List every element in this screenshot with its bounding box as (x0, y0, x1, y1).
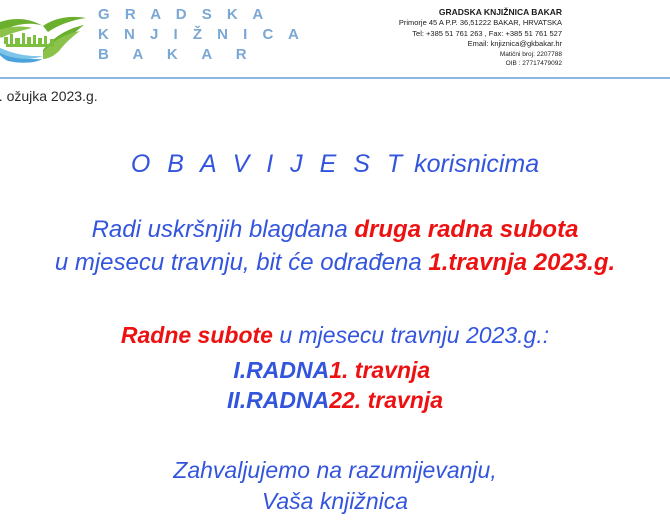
working-saturdays-heading-red: Radne subote (121, 322, 273, 348)
organization-oib: OIB : 27717479092 (399, 59, 562, 69)
page-title: O B A V I J E S T korisnicima (0, 150, 670, 179)
working-saturdays-table: I. RADNA 1. travnja II. RADNA 22. travnj… (227, 355, 443, 415)
shift-label: RADNA (246, 355, 329, 385)
shift-label: RADNA (246, 385, 329, 415)
shift-date: 22. travnja (329, 385, 443, 415)
library-logo: G R A D S K A K N J I Ž N I C A B A K A … (0, 4, 304, 66)
notice-body: O B A V I J E S T korisnicima Radi uskrš… (0, 150, 670, 517)
logo-wordmark: G R A D S K A K N J I Ž N I C A B A K A … (98, 5, 304, 65)
page-title-spaced: O B A V I J E S T (131, 150, 407, 178)
paragraph-2-red-date: 1.travnja 2023.g. (428, 249, 615, 276)
document-date: 5. ožujka 2023.g. (0, 88, 98, 104)
notice-paragraph-line-2: u mjesecu travnju, bit će odrađena 1.tra… (0, 246, 670, 279)
closing-line-2: Vaša knjižnica (0, 486, 670, 517)
contact-details: GRADSKA KNJIŽNICA BAKAR Primorje 45 A P.… (399, 6, 562, 69)
organization-registration-number: Matični broj: 2207788 (399, 50, 562, 60)
paragraph-1-blue-text: Radi uskršnjih blagdana (92, 216, 355, 243)
letterhead: G R A D S K A K N J I Ž N I C A B A K A … (0, 0, 670, 78)
organization-address: Primorje 45 A P.P. 36,51222 BAKAR, HRVAT… (399, 18, 562, 29)
header-divider (0, 77, 670, 79)
organization-name: GRADSKA KNJIŽNICA BAKAR (399, 6, 562, 18)
logo-wordmark-line-2: K N J I Ž N I C A (98, 25, 304, 45)
shift-numeral: II. (227, 385, 246, 415)
table-row: II. RADNA 22. travnja (227, 385, 443, 415)
table-row: I. RADNA 1. travnja (227, 355, 443, 385)
closing-line-1: Zahvaljujemo na razumijevanju, (0, 455, 670, 486)
notice-paragraph-line-1: Radi uskršnjih blagdana druga radna subo… (0, 213, 670, 246)
working-saturdays-heading: Radne subote u mjesecu travnju 2023.g.: (0, 319, 670, 351)
logo-wordmark-line-1: G R A D S K A (98, 5, 304, 25)
open-book-with-cityscape-and-water-logo (0, 4, 92, 66)
paragraph-1-red-text: druga radna subota (354, 216, 578, 243)
page-title-rest: korisnicima (414, 150, 539, 178)
shift-numeral: I. (227, 355, 246, 385)
shift-date: 1. travnja (329, 355, 443, 385)
organization-phone-fax: Tel: +385 51 761 263 , Fax: +385 51 761 … (399, 29, 562, 40)
paragraph-2-blue-text: u mjesecu travnju, bit će odrađena (55, 249, 429, 276)
logo-wordmark-line-3: B A K A R (98, 45, 304, 65)
organization-email: Email: knjiznica@gkbakar.hr (399, 39, 562, 50)
working-saturdays-heading-blue: u mjesecu travnju 2023.g.: (273, 322, 549, 348)
closing-block: Zahvaljujemo na razumijevanju, Vaša knji… (0, 455, 670, 517)
